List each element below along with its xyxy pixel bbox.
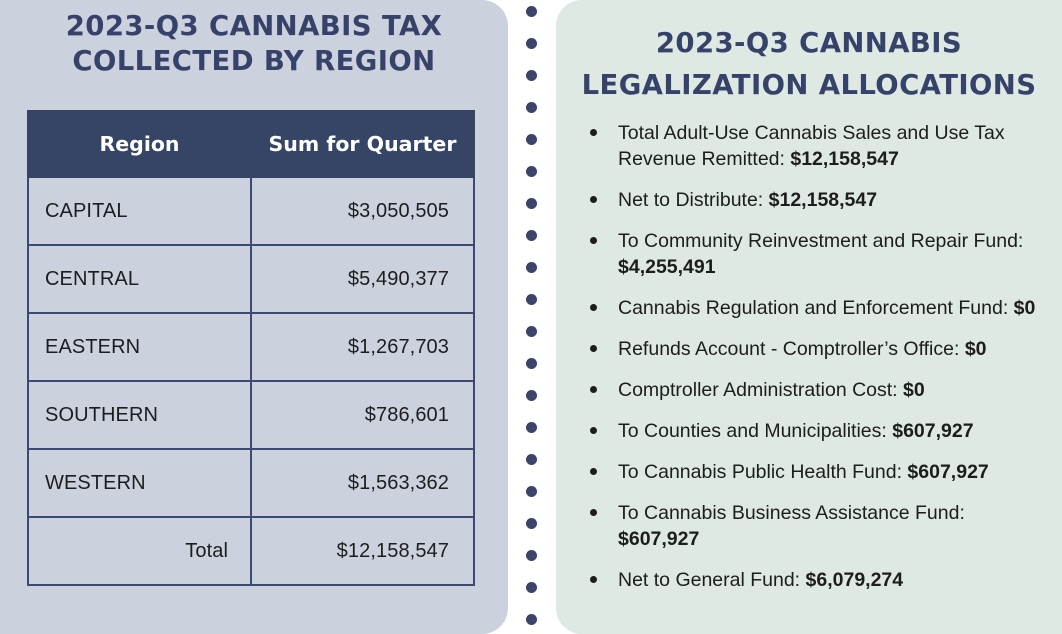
cell-region: CAPITAL: [28, 177, 251, 245]
divider-dot: [526, 454, 537, 465]
divider-dot: [526, 518, 537, 529]
allocation-item: To Cannabis Public Health Fund: $607,927: [576, 459, 1050, 485]
divider-dot: [526, 486, 537, 497]
allocation-item: Total Adult-Use Cannabis Sales and Use T…: [576, 120, 1050, 172]
allocation-item: To Community Reinvestment and Repair Fun…: [576, 228, 1050, 280]
divider-dot: [526, 262, 537, 273]
divider-dot: [526, 134, 537, 145]
cell-total-label: Total: [28, 517, 251, 585]
bullet-icon: [590, 345, 597, 352]
dotted-divider: [522, 0, 542, 634]
right-panel-title: 2023-Q3 Cannabis Legalization Allocation…: [556, 0, 1062, 106]
divider-dot: [526, 70, 537, 81]
left-panel-title: 2023-Q3 Cannabis Tax Collected by Region: [0, 0, 508, 79]
table-row: WESTERN $1,563,362: [28, 449, 474, 517]
table-row: CENTRAL $5,490,377: [28, 245, 474, 313]
divider-dot: [526, 6, 537, 17]
cell-region: CENTRAL: [28, 245, 251, 313]
allocation-item: Net to Distribute: $12,158,547: [576, 187, 1050, 213]
table-total-row: Total $12,158,547: [28, 517, 474, 585]
divider-dot: [526, 230, 537, 241]
divider-dot: [526, 422, 537, 433]
cell-total-sum: $12,158,547: [251, 517, 474, 585]
table-header: Region Sum for Quarter: [28, 111, 474, 177]
left-title-line-2: Collected by Region: [30, 44, 478, 79]
cell-region: EASTERN: [28, 313, 251, 381]
divider-dot: [526, 614, 537, 625]
table-row: SOUTHERN $786,601: [28, 381, 474, 449]
allocation-amount: $607,927: [892, 420, 973, 442]
allocation-item: To Cannabis Business Assistance Fund: $6…: [576, 500, 1050, 552]
table-row: EASTERN $1,267,703: [28, 313, 474, 381]
divider-dot: [526, 294, 537, 305]
cell-sum: $5,490,377: [251, 245, 474, 313]
divider-dot: [526, 390, 537, 401]
table-row: CAPITAL $3,050,505: [28, 177, 474, 245]
allocation-amount: $4,255,491: [618, 256, 716, 278]
allocation-label: To Cannabis Business Assistance Fund:: [618, 502, 965, 524]
bullet-icon: [590, 386, 597, 393]
allocation-label: Refunds Account - Comptroller’s Office:: [618, 338, 965, 360]
right-title-line-2: Legalization Allocations: [580, 64, 1038, 106]
allocation-amount: $0: [1014, 297, 1036, 319]
allocations-list: Total Adult-Use Cannabis Sales and Use T…: [556, 120, 1062, 593]
right-panel-legalization-allocations: 2023-Q3 Cannabis Legalization Allocation…: [556, 0, 1062, 634]
allocation-amount: $6,079,274: [806, 569, 904, 591]
allocation-item: To Counties and Municipalities: $607,927: [576, 418, 1050, 444]
cell-sum: $3,050,505: [251, 177, 474, 245]
divider-dot: [526, 38, 537, 49]
cell-region: WESTERN: [28, 449, 251, 517]
cell-sum: $786,601: [251, 381, 474, 449]
column-header-region: Region: [28, 111, 251, 177]
allocation-item: Refunds Account - Comptroller’s Office: …: [576, 336, 1050, 362]
bullet-icon: [590, 129, 597, 136]
cannabis-tax-infographic: 2023-Q3 Cannabis Tax Collected by Region…: [0, 0, 1062, 634]
left-panel-tax-by-region: 2023-Q3 Cannabis Tax Collected by Region…: [0, 0, 508, 634]
bullet-icon: [590, 304, 597, 311]
cell-sum: $1,267,703: [251, 313, 474, 381]
bullet-icon: [590, 196, 597, 203]
allocation-label: To Cannabis Public Health Fund:: [618, 461, 907, 483]
allocation-amount: $0: [965, 338, 987, 360]
allocation-label: To Counties and Municipalities:: [618, 420, 892, 442]
divider-dot: [526, 198, 537, 209]
divider-dot: [526, 326, 537, 337]
allocation-item: Comptroller Administration Cost: $0: [576, 377, 1050, 403]
right-title-line-1: 2023-Q3 Cannabis: [580, 22, 1038, 64]
allocation-label: Net to Distribute:: [618, 189, 769, 211]
divider-dot: [526, 550, 537, 561]
allocation-item: Cannabis Regulation and Enforcement Fund…: [576, 295, 1050, 321]
bullet-icon: [590, 576, 597, 583]
bullet-icon: [590, 427, 597, 434]
left-title-line-1: 2023-Q3 Cannabis Tax: [30, 9, 478, 44]
divider-dot: [526, 102, 537, 113]
table-body: CAPITAL $3,050,505 CENTRAL $5,490,377 EA…: [28, 177, 474, 585]
column-header-sum: Sum for Quarter: [251, 111, 474, 177]
allocation-label: Comptroller Administration Cost:: [618, 379, 903, 401]
allocation-label: Net to General Fund:: [618, 569, 806, 591]
divider-dot: [526, 582, 537, 593]
cell-region: SOUTHERN: [28, 381, 251, 449]
bullet-icon: [590, 237, 597, 244]
allocation-amount: $607,927: [907, 461, 988, 483]
tax-by-region-table: Region Sum for Quarter CAPITAL $3,050,50…: [27, 110, 475, 586]
bullet-icon: [590, 509, 597, 516]
allocation-label: Cannabis Regulation and Enforcement Fund…: [618, 297, 1014, 319]
cell-sum: $1,563,362: [251, 449, 474, 517]
allocation-amount: $12,158,547: [769, 189, 877, 211]
divider-dot: [526, 166, 537, 177]
allocation-label: To Community Reinvestment and Repair Fun…: [618, 230, 1023, 252]
allocation-amount: $12,158,547: [790, 148, 898, 170]
allocation-amount: $0: [903, 379, 925, 401]
bullet-icon: [590, 468, 597, 475]
table-header-row: Region Sum for Quarter: [28, 111, 474, 177]
divider-dot: [526, 358, 537, 369]
allocation-amount: $607,927: [618, 528, 699, 550]
allocation-item: Net to General Fund: $6,079,274: [576, 567, 1050, 593]
